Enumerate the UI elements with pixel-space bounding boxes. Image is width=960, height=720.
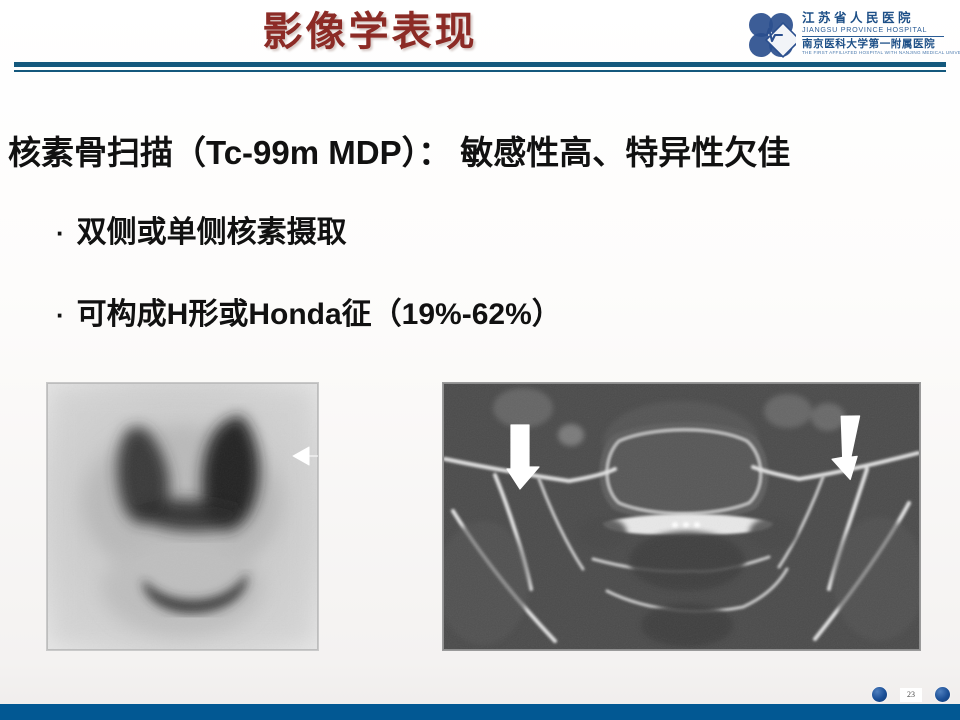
bullet-item-2: · 可构成H形或Honda征（19%-62%） [56, 295, 562, 335]
hospital-name-cn: 江苏省人民医院 [802, 11, 946, 25]
hospital-logo-icon [746, 10, 796, 60]
slide-navigation[interactable]: 23 [872, 687, 950, 702]
header-rule-thin [14, 70, 946, 72]
page-title: 影像学表现 [0, 8, 740, 56]
bullet-marker-icon: · [56, 213, 65, 253]
ct-left-arrow-icon [505, 423, 541, 491]
hospital-logo: 江苏省人民医院 JIANGSU PROVINCE HOSPITAL 南京医科大学… [746, 8, 946, 62]
header-rule-thick [14, 62, 946, 67]
hospital-sub-en: THE FIRST AFFILIATED HOSPITAL WITH NANJI… [802, 50, 946, 56]
bullet-label-2: 可构成H形或Honda征（19%-62%） [77, 295, 562, 335]
next-slide-icon[interactable] [935, 687, 950, 702]
page-number: 23 [900, 688, 922, 702]
bullet-label-1: 双侧或单侧核素摄取 [77, 213, 347, 253]
bullet-item-1: · 双侧或单侧核素摄取 [56, 213, 347, 253]
bone-scan-canvas [47, 383, 318, 650]
bone-scan-arrow-icon [291, 443, 318, 469]
footer-bar [0, 704, 960, 720]
hospital-logo-text: 江苏省人民医院 JIANGSU PROVINCE HOSPITAL 南京医科大学… [802, 11, 946, 56]
hospital-sub-cn: 南京医科大学第一附属医院 [802, 38, 946, 50]
bone-scintigraphy-image [47, 383, 318, 650]
slide-canvas: 影像学表现 江苏省人民医院 JIANGSU PROVINCE HOSPITAL … [0, 0, 960, 720]
logo-divider [802, 36, 944, 37]
pelvic-ct-image [443, 383, 920, 650]
hospital-name-en: JIANGSU PROVINCE HOSPITAL [802, 25, 946, 34]
slide-header: 影像学表现 江苏省人民医院 JIANGSU PROVINCE HOSPITAL … [0, 0, 960, 72]
bullet-marker-icon: · [56, 295, 65, 335]
section-headline: 核素骨扫描（Tc-99m MDP）： 敏感性高、特异性欠佳 [8, 131, 952, 175]
ct-right-arrow-icon [823, 411, 861, 481]
previous-slide-icon[interactable] [872, 687, 887, 702]
